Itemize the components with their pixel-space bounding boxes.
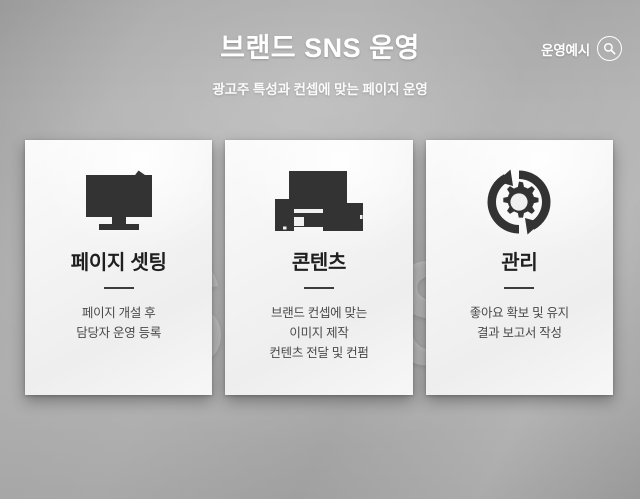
header: 브랜드 SNS 운영 광고주 특성과 컨셉에 맞는 페이지 운영 운영예시 [0,0,640,125]
card-divider [504,287,534,289]
gear-refresh-icon [483,166,555,238]
card-description-line: 컨텐츠 전달 및 컨펌 [269,343,368,363]
page-subtitle: 광고주 특성과 컨셉에 맞는 페이지 운영 [0,78,640,98]
card-row: 페이지 셋팅 페이지 개설 후 담당자 운영 등록 [25,140,613,395]
card-description-line: 페이지 개설 후 [76,303,161,323]
card-page-setting[interactable]: 페이지 셋팅 페이지 개설 후 담당자 운영 등록 [25,140,212,395]
card-description-line: 브랜드 컨셉에 맞는 [269,303,368,323]
card-title: 콘텐츠 [292,246,346,275]
card-title: 페이지 셋팅 [71,246,167,275]
card-management[interactable]: 관리 좋아요 확보 및 유지 결과 보고서 작성 [426,140,613,395]
card-title: 관리 [501,246,537,275]
card-description: 페이지 개설 후 담당자 운영 등록 [68,303,169,343]
monitor-paintbrush-icon [82,166,156,238]
card-description-line: 좋아요 확보 및 유지 [470,303,569,323]
search-icon[interactable] [597,36,622,61]
card-description-line: 담당자 운영 등록 [76,323,161,343]
multi-device-icon [273,166,365,238]
card-description-line: 결과 보고서 작성 [470,323,569,343]
slide-canvas: 브랜드 SNS 운영 광고주 특성과 컨셉에 맞는 페이지 운영 운영예시 SN… [0,0,640,499]
card-divider [304,287,334,289]
operation-example-label: 운영예시 [541,39,590,59]
card-contents[interactable]: 콘텐츠 브랜드 컨셉에 맞는 이미지 제작 컨텐츠 전달 및 컨펌 [225,140,412,395]
card-description: 좋아요 확보 및 유지 결과 보고서 작성 [462,303,577,343]
operation-example-button[interactable]: 운영예시 [541,36,622,61]
card-description: 브랜드 컨셉에 맞는 이미지 제작 컨텐츠 전달 및 컨펌 [261,303,376,363]
card-divider [104,287,134,289]
card-description-line: 이미지 제작 [269,323,368,343]
